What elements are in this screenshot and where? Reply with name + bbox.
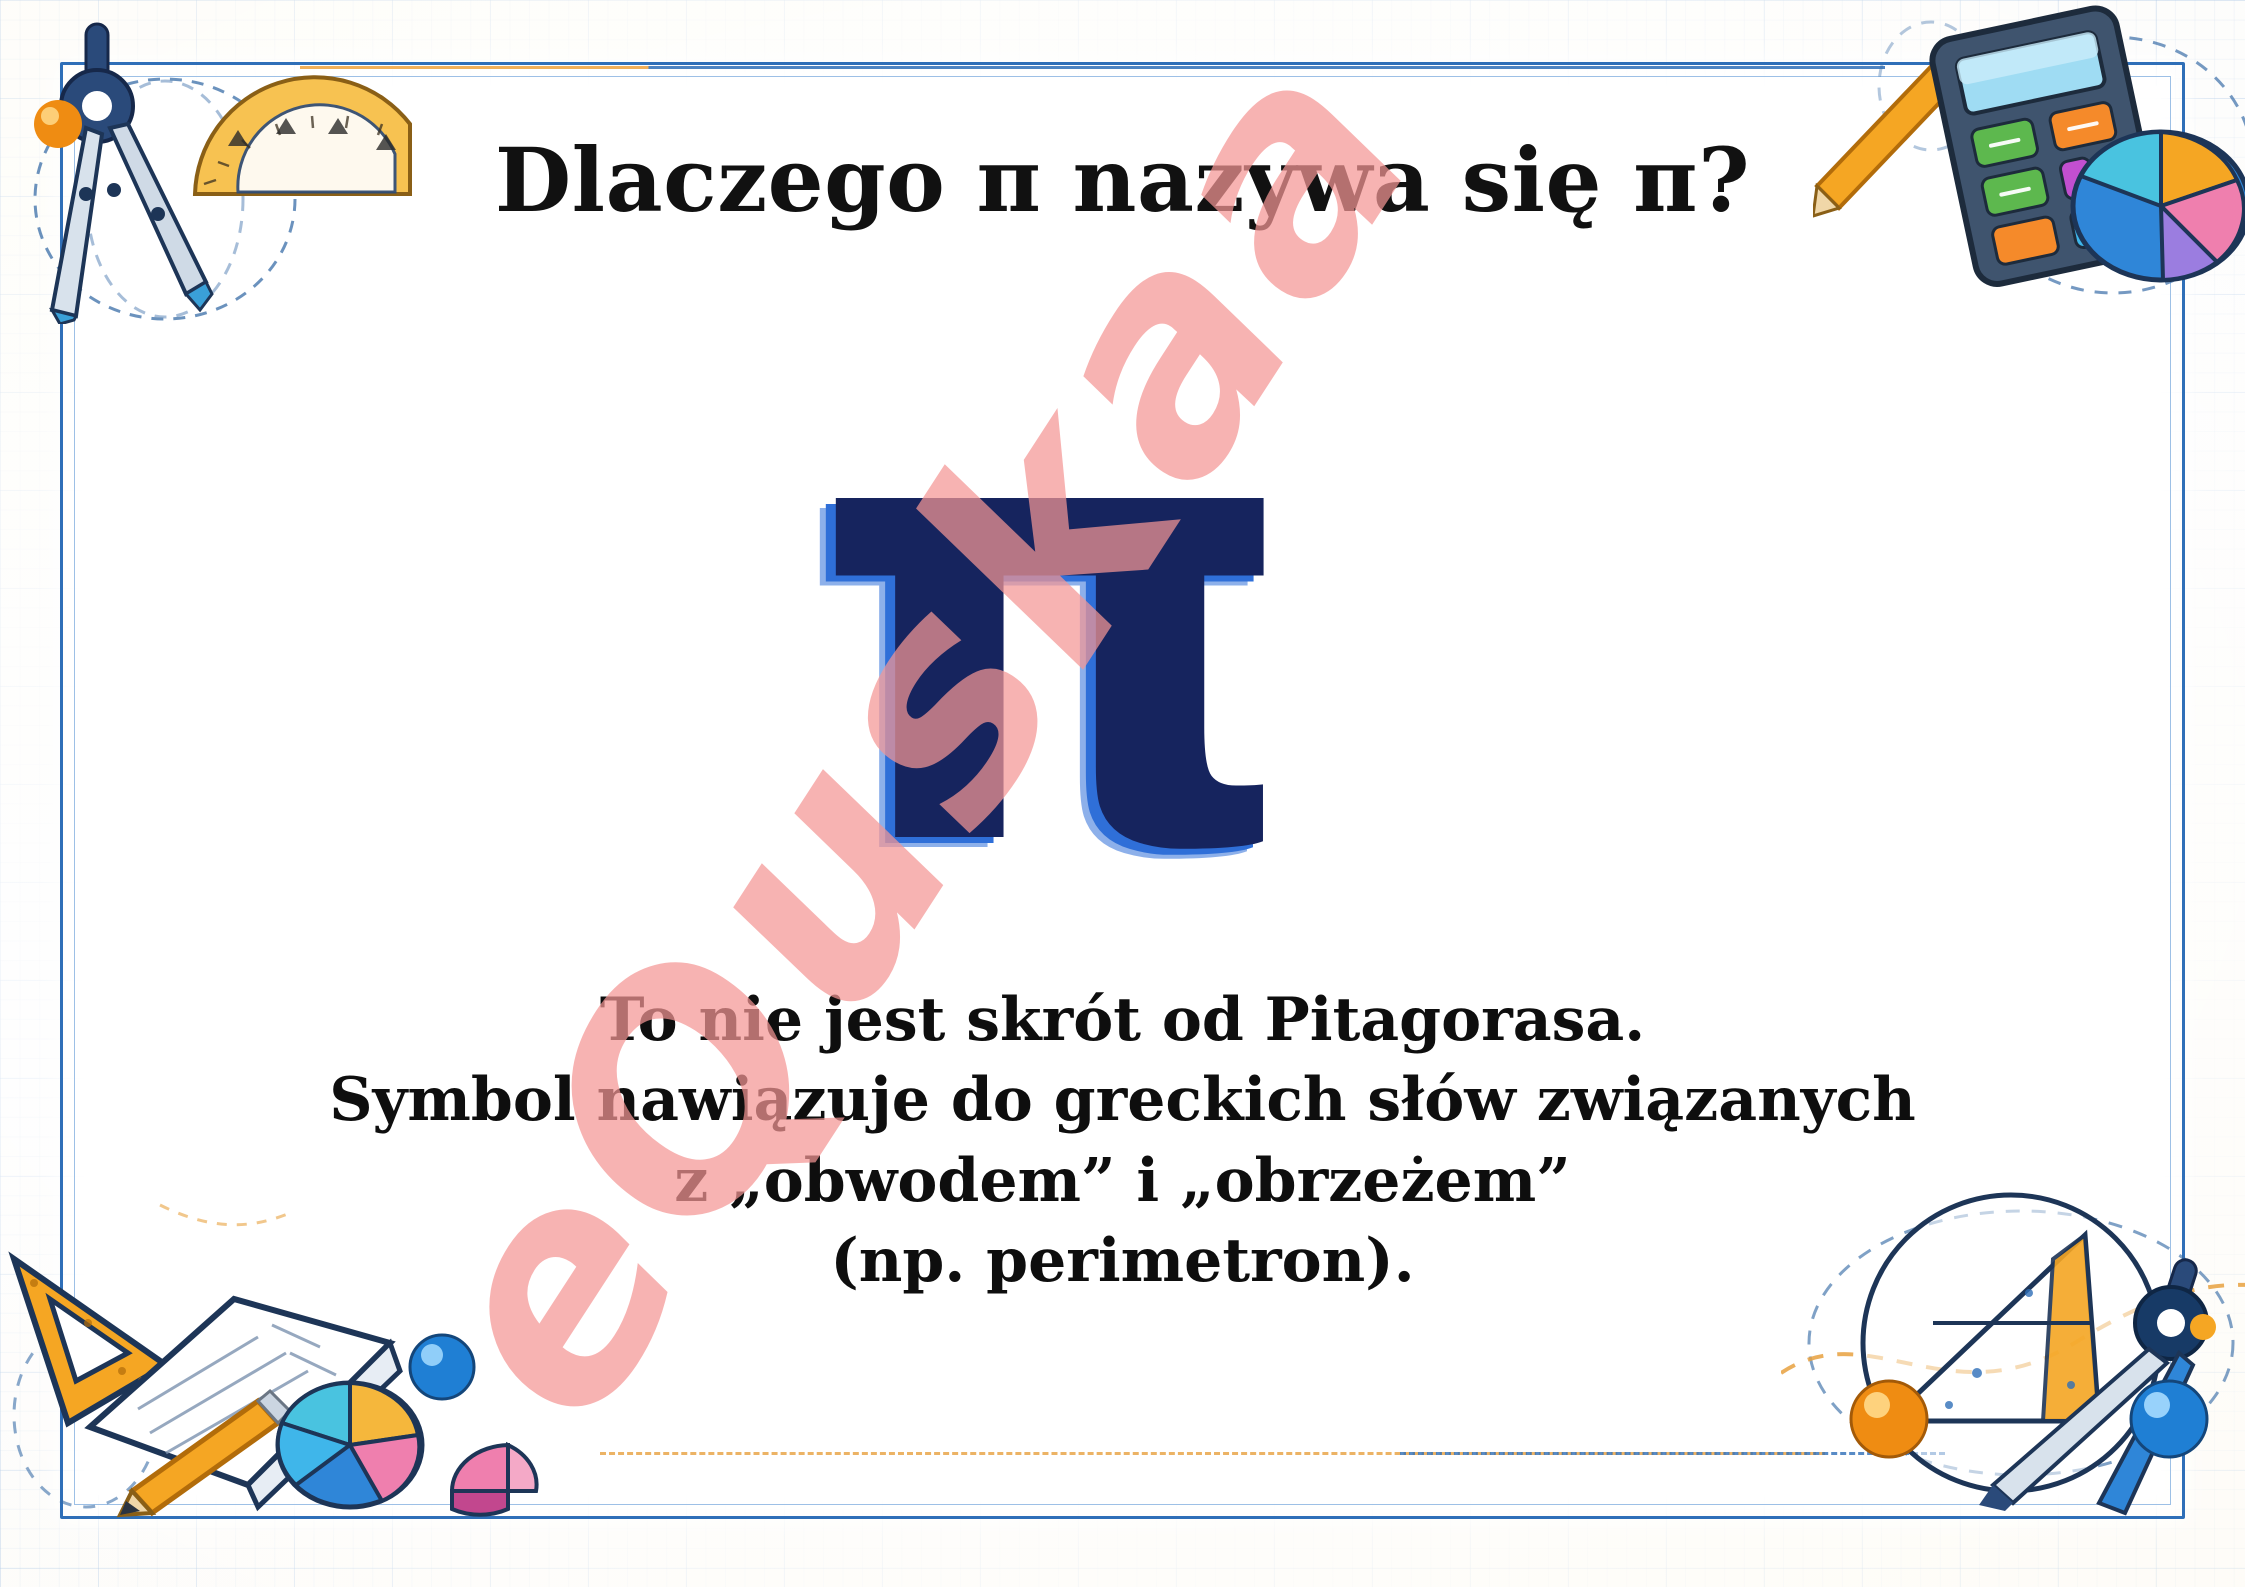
frame-top-accent-line xyxy=(300,66,1885,69)
page-title: Dlaczego π nazywa się π? xyxy=(0,128,2245,232)
body-text-block: To nie jest skrót od Pitagorasa. Symbol … xyxy=(0,980,2245,1302)
pi-symbol-panel: π xyxy=(500,358,1610,918)
body-line-2: Symbol nawiązuje do greckich słów związa… xyxy=(0,1060,2245,1140)
frame-bottom-dashed-blue xyxy=(1400,1452,1945,1455)
body-line-3: z „obwodem” i „obrzeżem” xyxy=(0,1141,2245,1221)
slide-canvas: Dlaczego π nazywa się π? π To nie jest s… xyxy=(0,0,2245,1587)
body-line-4: (np. perimetron). xyxy=(0,1221,2245,1301)
pi-symbol-glyph: π xyxy=(810,382,1300,866)
body-line-1: To nie jest skrót od Pitagorasa. xyxy=(0,980,2245,1060)
